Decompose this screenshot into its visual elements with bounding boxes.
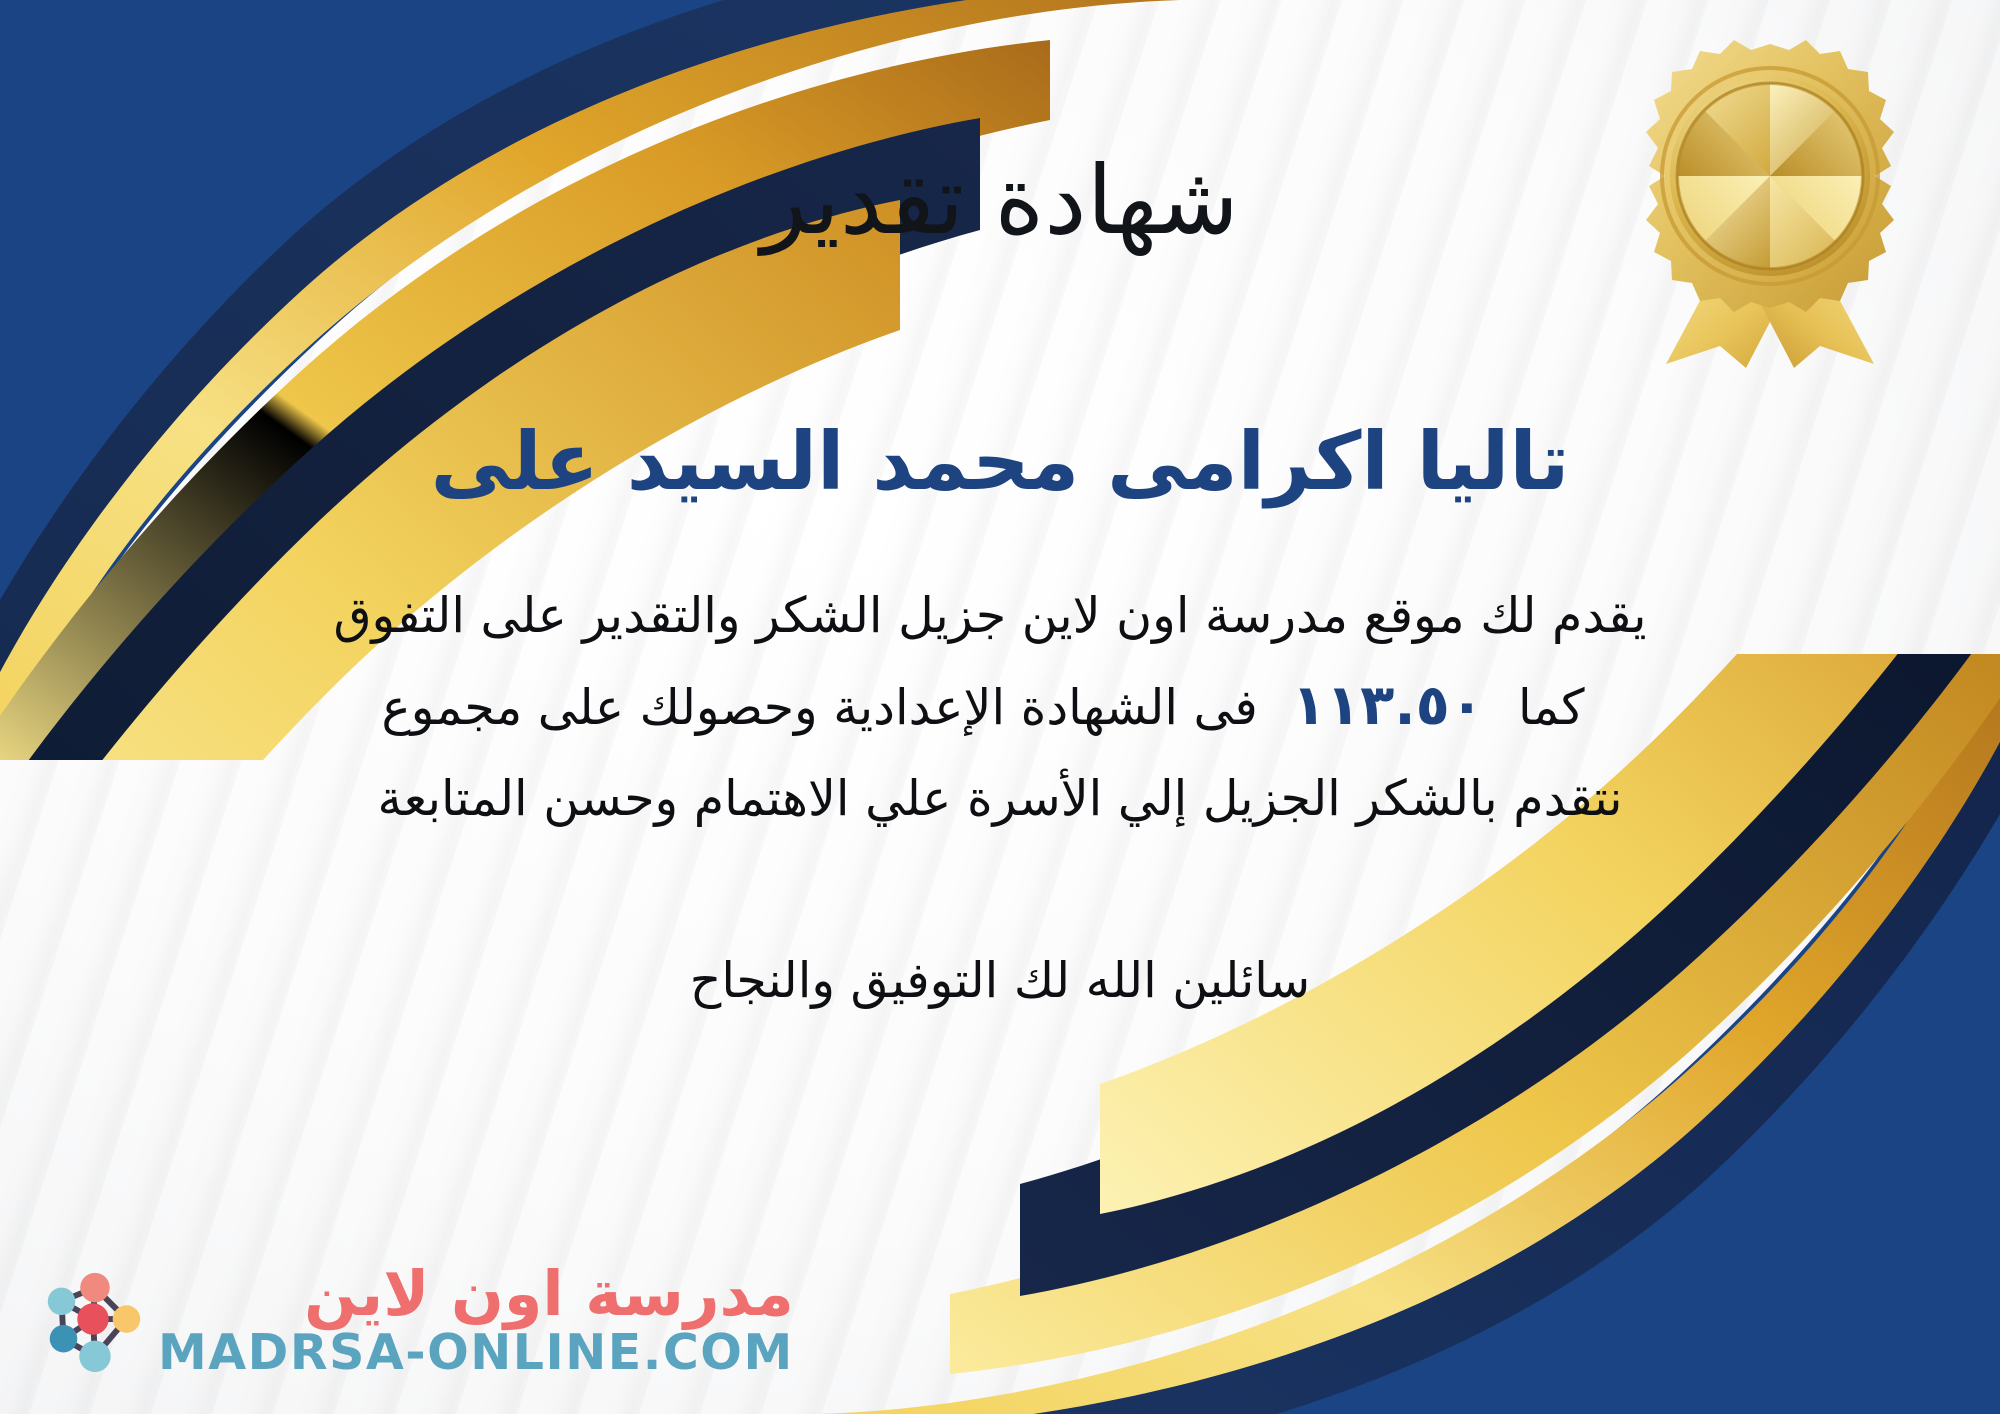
gold-award-seal-icon xyxy=(1620,28,1920,368)
body-line-3: نتقدم بالشكر الجزيل إلي الأسرة علي الاهت… xyxy=(120,757,1880,840)
body-line-1: يقدم لك موقع مدرسة اون لاين جزيل الشكر و… xyxy=(120,574,1880,657)
body-line-2: فى الشهادة الإعدادية وحصولك على مجموع ١١… xyxy=(120,658,1880,753)
brand-logo[interactable]: مدرسة اون لاين MADRSA-ONLINE.COM xyxy=(34,1261,794,1380)
network-nodes-icon xyxy=(34,1262,152,1380)
brand-text-group: مدرسة اون لاين MADRSA-ONLINE.COM xyxy=(158,1261,794,1380)
total-score-value: ١١٣.٥٠ xyxy=(1292,658,1484,753)
body-line-2-prefix: فى الشهادة الإعدادية وحصولك على مجموع xyxy=(381,666,1257,749)
brand-name-arabic: مدرسة اون لاين xyxy=(304,1261,794,1326)
closing-line: سائلين الله لك التوفيق والنجاح xyxy=(690,952,1310,1009)
brand-website-url: MADRSA-ONLINE.COM xyxy=(158,1326,794,1380)
body-text-block: يقدم لك موقع مدرسة اون لاين جزيل الشكر و… xyxy=(120,574,1880,840)
page-title: شهادة تقدير xyxy=(761,152,1239,252)
body-line-2-suffix: كما xyxy=(1518,666,1585,749)
recipient-name: تاليا اكرامى محمد السيد على xyxy=(431,417,1570,507)
certificate-canvas: شهادة تقدير تاليا اكرامى محمد السيد على … xyxy=(0,0,2000,1414)
